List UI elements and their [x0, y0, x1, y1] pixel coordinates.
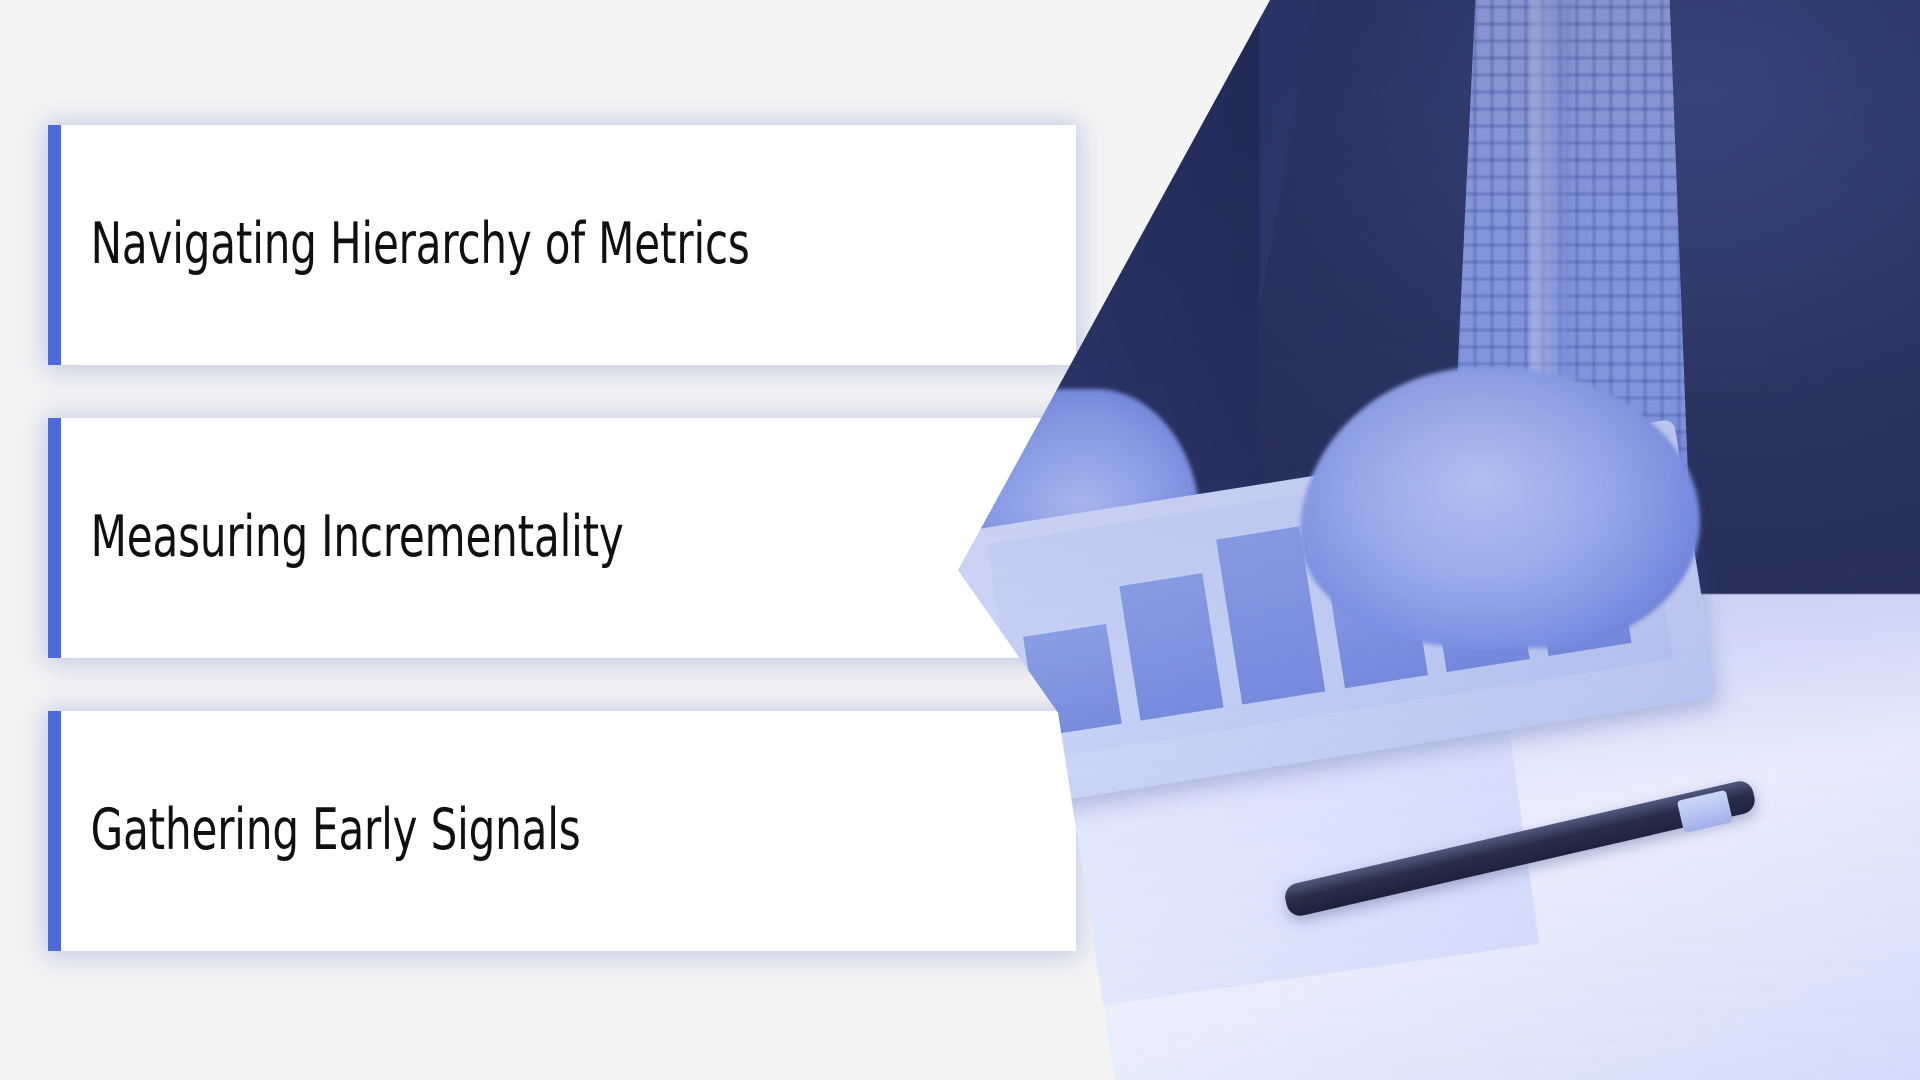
card-item[interactable]: Measuring Incrementality: [48, 418, 1076, 658]
card-label: Gathering Early Signals: [48, 801, 581, 861]
card-list: Navigating Hierarchy of Metrics Measurin…: [48, 125, 1076, 1004]
card-label: Measuring Incrementality: [48, 508, 624, 568]
slide-canvas: Navigating Hierarchy of Metrics Measurin…: [0, 0, 1920, 1080]
card-item[interactable]: Navigating Hierarchy of Metrics: [48, 125, 1076, 365]
card-item[interactable]: Gathering Early Signals: [48, 711, 1076, 951]
card-label: Navigating Hierarchy of Metrics: [48, 215, 750, 275]
